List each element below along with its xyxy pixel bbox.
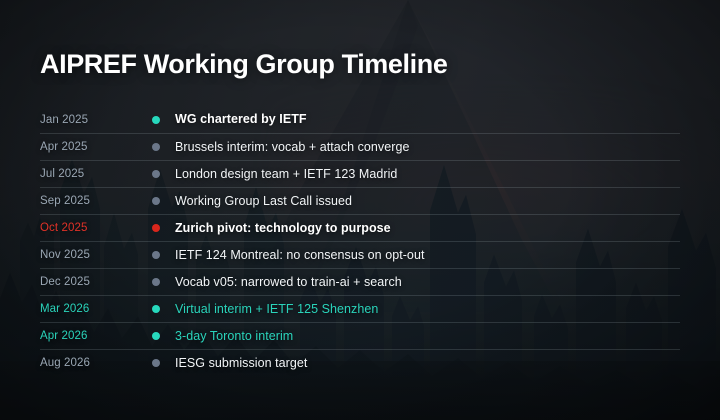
- page-title: AIPREF Working Group Timeline: [40, 48, 447, 80]
- timeline-row[interactable]: Mar 2026Virtual interim + IETF 125 Shenz…: [40, 295, 680, 322]
- milestone-dot-icon: [152, 278, 160, 286]
- milestone-dot-icon: [152, 116, 160, 124]
- timeline-row-date: Mar 2026: [40, 302, 152, 316]
- timeline-row-marker: [152, 224, 175, 232]
- timeline-row[interactable]: Nov 2025IETF 124 Montreal: no consensus …: [40, 241, 680, 268]
- timeline-row[interactable]: Oct 2025Zurich pivot: technology to purp…: [40, 214, 680, 241]
- milestone-dot-icon: [152, 332, 160, 340]
- timeline-row[interactable]: Sep 2025Working Group Last Call issued: [40, 187, 680, 214]
- timeline-row-marker: [152, 170, 175, 178]
- timeline-row-label: IESG submission target: [175, 356, 680, 371]
- milestone-dot-icon: [152, 224, 160, 232]
- timeline-row-date: Oct 2025: [40, 221, 152, 235]
- timeline-row-date: Dec 2025: [40, 275, 152, 289]
- timeline-row-marker: [152, 251, 175, 259]
- timeline-row-label: Brussels interim: vocab + attach converg…: [175, 140, 680, 155]
- timeline-row-marker: [152, 332, 175, 340]
- timeline-row-date: Apr 2025: [40, 140, 152, 154]
- timeline-row-marker: [152, 143, 175, 151]
- milestone-dot-icon: [152, 143, 160, 151]
- timeline-row-marker: [152, 305, 175, 313]
- timeline-list: Jan 2025WG chartered by IETFApr 2025Brus…: [40, 106, 680, 376]
- timeline-row-date: Jan 2025: [40, 113, 152, 127]
- timeline-row-date: Aug 2026: [40, 356, 152, 370]
- timeline-row[interactable]: Apr 2025Brussels interim: vocab + attach…: [40, 133, 680, 160]
- timeline-row[interactable]: Jan 2025WG chartered by IETF: [40, 106, 680, 133]
- timeline-row-label: Zurich pivot: technology to purpose: [175, 221, 680, 236]
- timeline-row-label: London design team + IETF 123 Madrid: [175, 167, 680, 182]
- timeline-row-marker: [152, 197, 175, 205]
- milestone-dot-icon: [152, 251, 160, 259]
- timeline-row-date: Sep 2025: [40, 194, 152, 208]
- timeline-row-date: Nov 2025: [40, 248, 152, 262]
- timeline-row-marker: [152, 116, 175, 124]
- timeline-row-label: Virtual interim + IETF 125 Shenzhen: [175, 302, 680, 317]
- timeline-row[interactable]: Apr 20263-day Toronto interim: [40, 322, 680, 349]
- timeline-row-date: Jul 2025: [40, 167, 152, 181]
- timeline-row[interactable]: Dec 2025Vocab v05: narrowed to train-ai …: [40, 268, 680, 295]
- timeline-slide: AIPREF Working Group Timeline Jan 2025WG…: [0, 0, 720, 420]
- timeline-row-marker: [152, 278, 175, 286]
- timeline-row-label: Working Group Last Call issued: [175, 194, 680, 209]
- milestone-dot-icon: [152, 359, 160, 367]
- timeline-row[interactable]: Aug 2026IESG submission target: [40, 349, 680, 376]
- milestone-dot-icon: [152, 305, 160, 313]
- timeline-row-label: WG chartered by IETF: [175, 112, 680, 127]
- slide-content: AIPREF Working Group Timeline Jan 2025WG…: [0, 0, 720, 420]
- timeline-row[interactable]: Jul 2025London design team + IETF 123 Ma…: [40, 160, 680, 187]
- milestone-dot-icon: [152, 170, 160, 178]
- timeline-row-label: Vocab v05: narrowed to train-ai + search: [175, 275, 680, 290]
- timeline-row-marker: [152, 359, 175, 367]
- timeline-row-label: 3-day Toronto interim: [175, 329, 680, 344]
- milestone-dot-icon: [152, 197, 160, 205]
- timeline-row-date: Apr 2026: [40, 329, 152, 343]
- timeline-row-label: IETF 124 Montreal: no consensus on opt-o…: [175, 248, 680, 263]
